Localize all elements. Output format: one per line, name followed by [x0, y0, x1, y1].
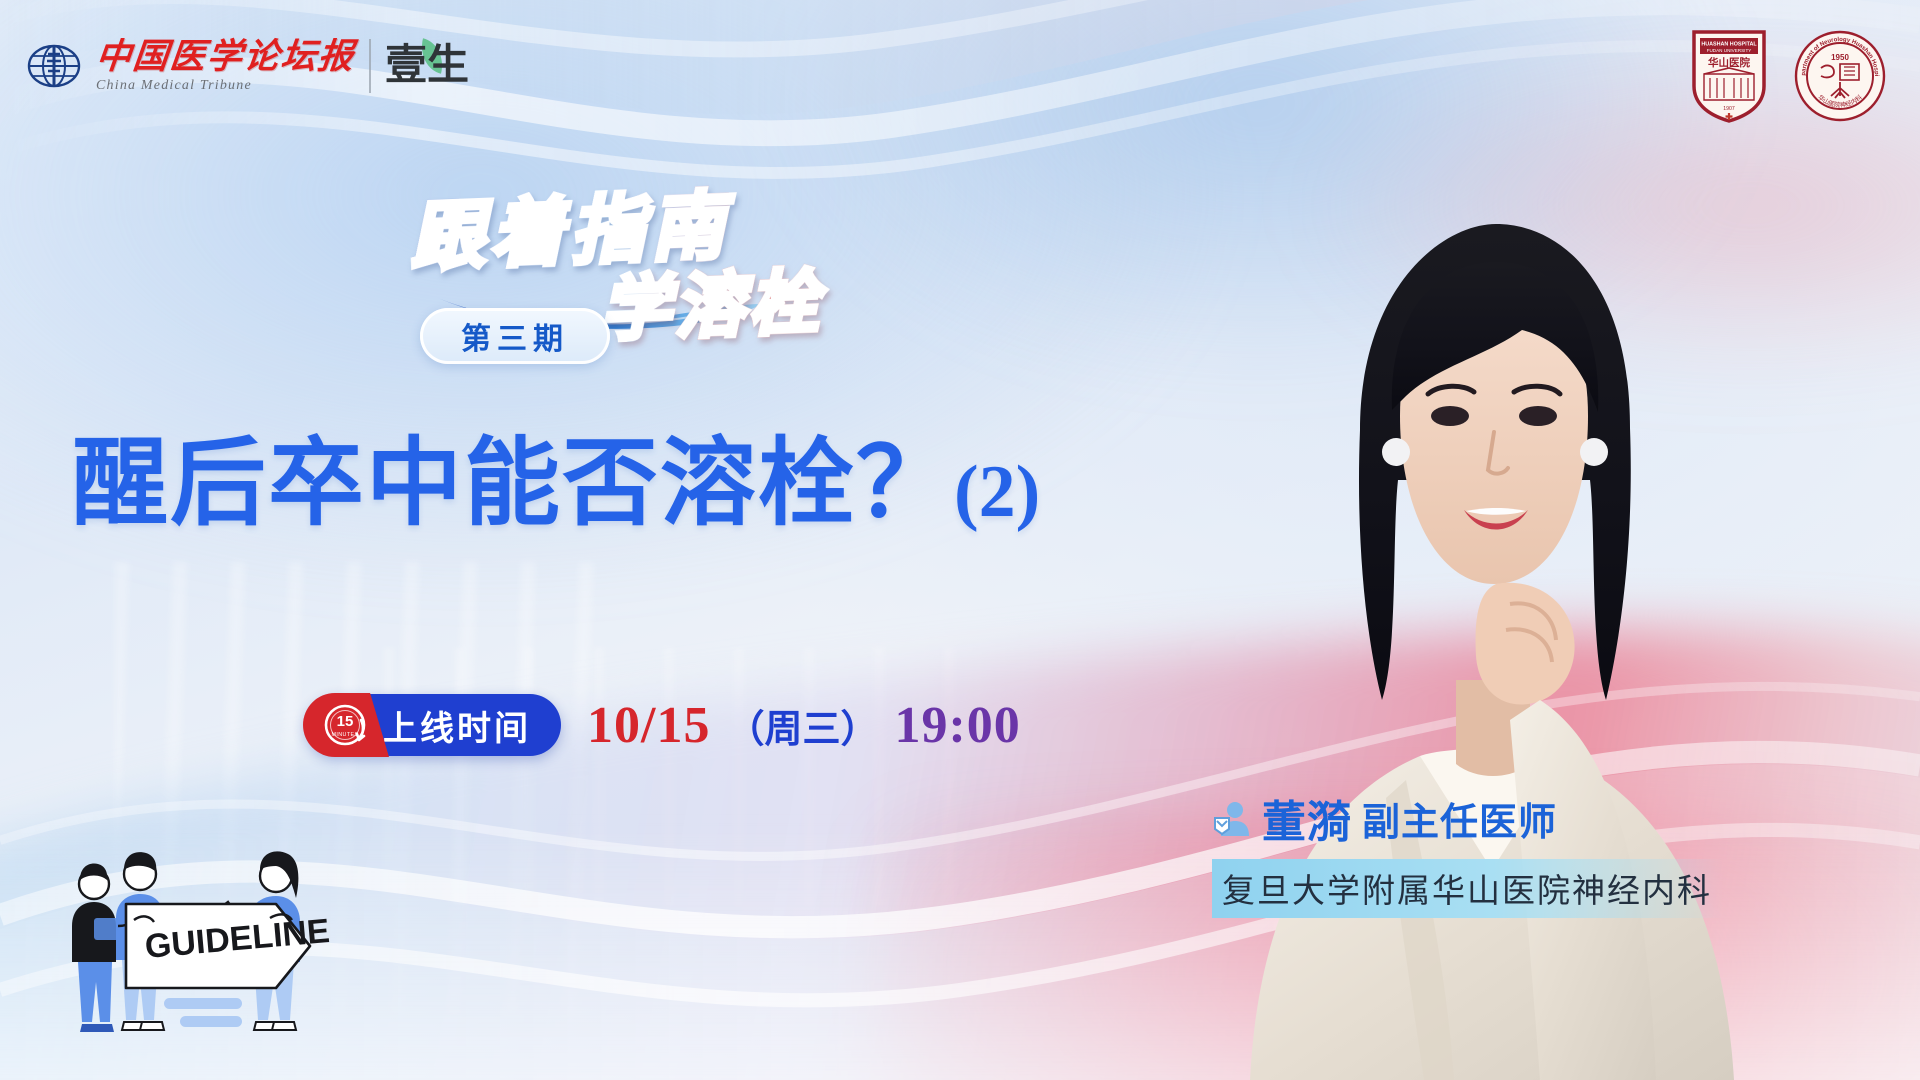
- headline-main: 醒后卒中能否溶栓？: [72, 430, 954, 537]
- speaker-name-row: 董漪 副主任医师: [1212, 786, 1724, 850]
- clock-badge: 15 MINUTES: [303, 693, 389, 757]
- svg-text:FUDAN UNIVERSITY: FUDAN UNIVERSITY: [1707, 48, 1752, 53]
- speaker-block: 董漪 副主任医师 复旦大学附属华山医院神经内科: [1212, 786, 1724, 918]
- episode-badge: 第三期: [420, 308, 610, 364]
- broadcast-weekday: （周三）: [726, 698, 878, 753]
- neurology-department-roundel-icon: Department of Neurology Huashan Hospital…: [1794, 30, 1886, 122]
- schedule-row: 15 MINUTES 上线时间 10/15 （周三） 19:00: [305, 694, 1021, 756]
- hospital-logo-group: HUASHAN HOSPITAL FUDAN UNIVERSITY 华山医院 1…: [1690, 28, 1886, 124]
- online-time-badge: 15 MINUTES 上线时间: [305, 694, 561, 756]
- svg-text:1907: 1907: [1723, 106, 1735, 112]
- doctor-portrait-photo: [1210, 180, 1770, 1080]
- sub-brand-logo[interactable]: 壹生: [385, 45, 469, 87]
- speaker-affiliation: 复旦大学附属华山医院神经内科: [1212, 859, 1724, 918]
- svg-text:HUASHAN HOSPITAL: HUASHAN HOSPITAL: [1701, 42, 1757, 48]
- svg-text:华山医院: 华山医院: [1708, 56, 1750, 69]
- headline-suffix: (2): [954, 451, 1040, 533]
- page-title: 醒后卒中能否溶栓？(2): [72, 430, 1040, 538]
- svg-text:15: 15: [337, 713, 354, 730]
- huashan-hospital-shield-icon: HUASHAN HOSPITAL FUDAN UNIVERSITY 华山医院 1…: [1690, 28, 1768, 124]
- series-title-line2: 学溶栓: [598, 246, 823, 355]
- guideline-people-illustration: GUIDELINE: [38, 822, 338, 1042]
- episode-badge-label: 第三期: [461, 314, 569, 358]
- svg-text:1950: 1950: [1831, 53, 1849, 62]
- globe-icon: [26, 38, 82, 94]
- brand-lockup[interactable]: 中国医学论坛报 China Medical Tribune 壹生: [26, 38, 469, 94]
- broadcast-time: 19:00: [894, 696, 1020, 755]
- 15-minutes-clock-icon: 15 MINUTES: [321, 700, 371, 750]
- speaker-name: 董漪: [1262, 786, 1352, 850]
- banner-stage: 中国医学论坛报 China Medical Tribune 壹生 HUASHAN…: [0, 0, 1920, 1080]
- publisher-name-block: 中国医学论坛报 China Medical Tribune: [96, 39, 355, 94]
- brand-divider: [369, 39, 371, 93]
- online-time-label: 上线时间: [383, 701, 531, 750]
- svg-text:MINUTES: MINUTES: [331, 732, 358, 738]
- broadcast-date: 10/15: [587, 696, 710, 755]
- publisher-name-en: China Medical Tribune: [96, 78, 252, 94]
- publisher-name-cn: 中国医学论坛报: [94, 39, 357, 74]
- person-icon: [1212, 798, 1252, 838]
- speaker-title: 副主任医师: [1362, 791, 1557, 846]
- sub-brand-label: 壹生: [385, 45, 469, 87]
